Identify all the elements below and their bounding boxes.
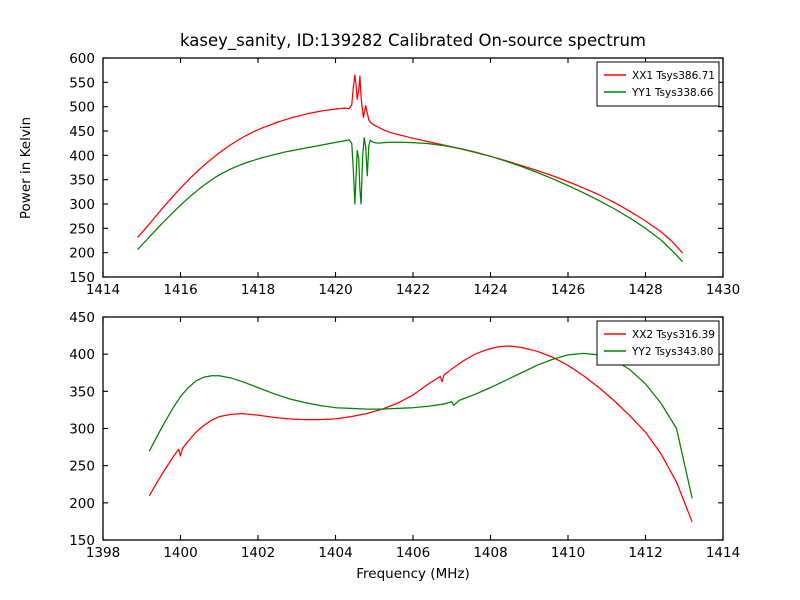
xtick-label-1410: 1410: [551, 545, 585, 561]
legend-label-XX1: XX1 Tsys386.71: [632, 70, 715, 82]
legend-box-bottom: [597, 321, 719, 365]
series-line-xx2: [150, 346, 693, 521]
ytick-label-450: 450: [69, 310, 95, 326]
legend-top: XX1 Tsys386.71YY1 Tsys338.66: [597, 62, 719, 106]
ytick-label-450: 450: [69, 124, 95, 140]
xtick-label-1430: 1430: [706, 282, 740, 298]
ytick-label-250: 250: [69, 221, 95, 237]
ytick-label-350: 350: [69, 384, 95, 400]
xtick-label-1428: 1428: [628, 282, 662, 298]
xtick-label-1418: 1418: [241, 282, 275, 298]
ytick-label-600: 600: [69, 51, 95, 67]
legend-label-XX2: XX2 Tsys316.39: [632, 329, 715, 341]
y-axis-label: Power in Kelvin: [18, 117, 34, 219]
spectrum-plot: 1414141614181420142214241426142814301502…: [0, 0, 800, 600]
ytick-label-150: 150: [69, 533, 95, 549]
panel-bottom: 1398140014021404140614081410141214141502…: [69, 310, 740, 561]
xtick-label-1402: 1402: [241, 545, 275, 561]
panel-top: 1414141614181420142214241426142814301502…: [69, 51, 740, 298]
xtick-label-1406: 1406: [396, 545, 430, 561]
xtick-label-1404: 1404: [318, 545, 352, 561]
x-axis-label: Frequency (MHz): [356, 566, 469, 582]
ytick-label-150: 150: [69, 270, 95, 286]
figure-title: kasey_sanity, ID:139282 Calibrated On-so…: [180, 31, 646, 51]
ytick-label-300: 300: [69, 197, 95, 213]
xtick-label-1400: 1400: [163, 545, 197, 561]
ytick-label-200: 200: [69, 246, 95, 262]
ytick-label-400: 400: [69, 347, 95, 363]
xtick-label-1408: 1408: [473, 545, 507, 561]
series-line-yy1: [138, 138, 682, 262]
figure-canvas: 1414141614181420142214241426142814301502…: [0, 0, 800, 600]
ytick-label-500: 500: [69, 100, 95, 116]
xtick-label-1412: 1412: [628, 545, 662, 561]
legend-bottom: XX2 Tsys316.39YY2 Tsys343.80: [597, 321, 719, 365]
xtick-label-1422: 1422: [396, 282, 430, 298]
legend-label-YY2: YY2 Tsys343.80: [631, 346, 713, 358]
xtick-label-1416: 1416: [163, 282, 197, 298]
ytick-label-300: 300: [69, 422, 95, 438]
ytick-label-350: 350: [69, 173, 95, 189]
xtick-label-1426: 1426: [551, 282, 585, 298]
ytick-label-550: 550: [69, 75, 95, 91]
series-group-bottom: [150, 346, 693, 521]
legend-label-YY1: YY1 Tsys338.66: [631, 87, 714, 99]
xtick-label-1424: 1424: [473, 282, 507, 298]
xtick-label-1420: 1420: [318, 282, 352, 298]
xtick-label-1414: 1414: [706, 545, 740, 561]
series-line-yy2: [150, 353, 693, 497]
ytick-label-400: 400: [69, 148, 95, 164]
ytick-label-200: 200: [69, 496, 95, 512]
ytick-label-250: 250: [69, 459, 95, 475]
legend-box-top: [597, 62, 719, 106]
